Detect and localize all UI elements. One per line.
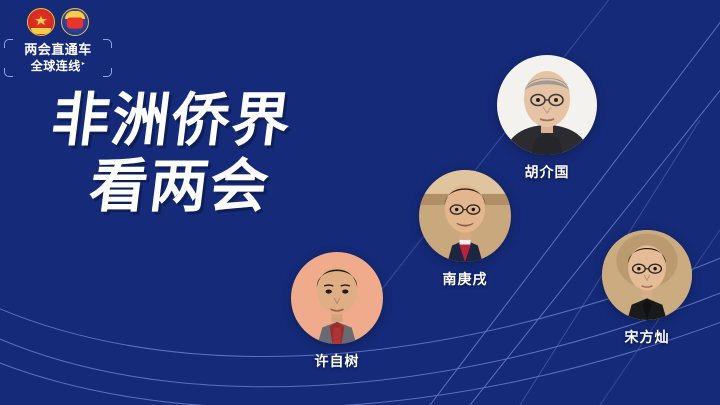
portrait-image xyxy=(497,55,597,155)
avatar xyxy=(419,170,511,262)
portrait-song-fangcan[interactable]: 宋方灿 xyxy=(602,230,692,347)
portrait-hu-jieguo[interactable]: 胡介国 xyxy=(497,55,597,182)
portrait-image xyxy=(291,252,383,344)
headline-line-2: 看两会 xyxy=(86,154,396,218)
bracket-top-right-icon xyxy=(103,39,112,48)
headline-line-1: 非洲侨界 xyxy=(48,88,396,152)
portrait-name-label: 南庚戌 xyxy=(419,269,511,289)
avatar xyxy=(497,55,597,155)
logo-superscript-icon: ▸ xyxy=(82,61,86,67)
portrait-nan-gengxu[interactable]: 南庚戌 xyxy=(419,170,511,289)
page-title: 非洲侨界 看两会 xyxy=(52,88,392,218)
avatar xyxy=(602,230,692,320)
bracket-top-left-icon xyxy=(4,39,13,48)
logo-title-line1: 两会直通车 xyxy=(6,42,110,57)
avatar xyxy=(291,252,383,344)
program-logo: 两会直通车 全球连线▸ xyxy=(6,8,110,78)
cppcc-emblem-icon xyxy=(61,8,89,36)
logo-text-frame: 两会直通车 全球连线▸ xyxy=(6,40,110,76)
portrait-name-label: 许自树 xyxy=(291,351,383,371)
national-emblem-icon xyxy=(27,8,55,36)
portrait-xu-zishu[interactable]: 许自树 xyxy=(291,252,383,371)
logo-title-line2: 全球连线▸ xyxy=(6,57,110,74)
portrait-image xyxy=(602,230,692,320)
portrait-image xyxy=(419,170,511,262)
portrait-name-label: 胡介国 xyxy=(497,162,597,182)
portrait-name-label: 宋方灿 xyxy=(602,327,692,347)
poster-root: 两会直通车 全球连线▸ 非洲侨界 看两会 xyxy=(0,0,720,405)
emblem-row xyxy=(6,8,110,38)
logo-subtitle-text: 全球连线 xyxy=(31,59,81,73)
